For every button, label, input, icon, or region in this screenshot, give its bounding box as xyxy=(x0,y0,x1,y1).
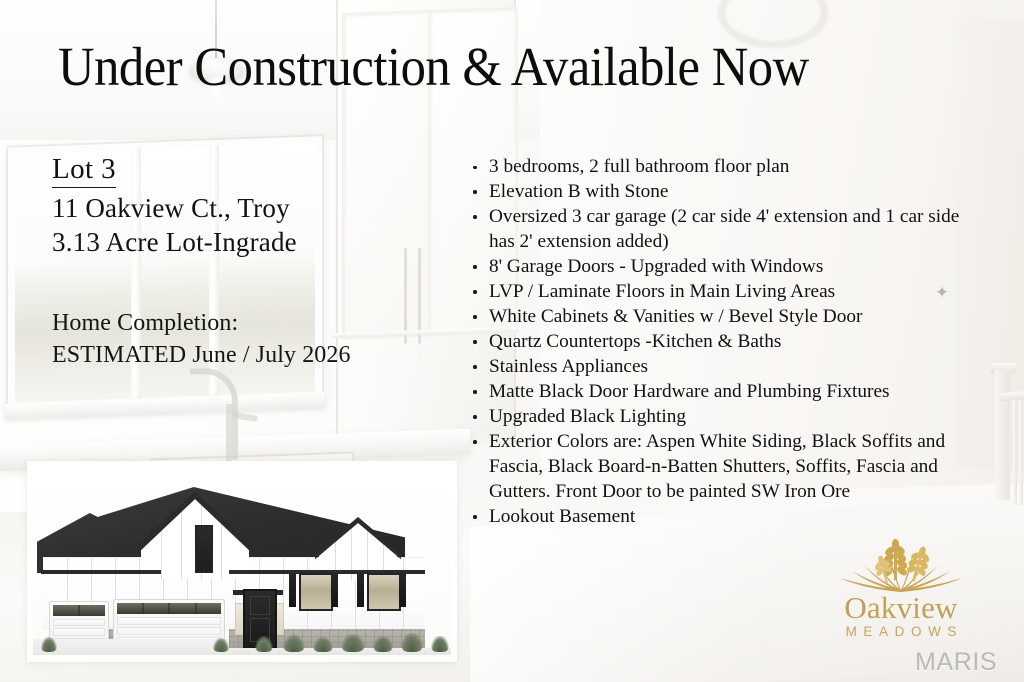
flyer-canvas: ✦ Under Construction & Available Now Lot… xyxy=(0,0,1024,682)
shrub xyxy=(255,636,273,652)
eave-left xyxy=(41,570,161,574)
lot-number: Lot 3 xyxy=(52,152,116,188)
flyer-content: Under Construction & Available Now Lot 3… xyxy=(0,0,1024,682)
listing-address: 11 Oakview Ct., Troy xyxy=(52,191,297,225)
shrub xyxy=(401,633,423,652)
feature-item: Lookout Basement xyxy=(470,505,970,530)
gable-window xyxy=(195,525,213,573)
feature-item: Elevation B with Stone xyxy=(470,180,970,205)
features-list: 3 bedrooms, 2 full bathroom floor planEl… xyxy=(470,155,970,530)
page-title: Under Construction & Available Now xyxy=(58,38,809,96)
shrub xyxy=(313,637,333,652)
feature-item: White Cabinets & Vanities w / Bevel Styl… xyxy=(470,305,970,330)
window-shutter xyxy=(357,573,364,607)
house-window xyxy=(299,573,333,611)
logo-subtitle: MEADOWS xyxy=(806,624,996,639)
feature-item: Stainless Appliances xyxy=(470,355,970,380)
feature-item: Oversized 3 car garage (2 car side 4' ex… xyxy=(470,205,970,255)
shrub xyxy=(341,634,365,652)
house-elevation-image xyxy=(33,469,451,655)
lot-number-wrap: Lot 3 xyxy=(52,152,297,191)
completion-label: Home Completion: xyxy=(52,308,351,340)
feature-item: Quartz Countertops -Kitchen & Baths xyxy=(470,330,970,355)
driveway xyxy=(33,639,229,655)
garage-door-windows xyxy=(53,605,105,616)
shrub xyxy=(373,636,393,652)
wheat-icon xyxy=(806,534,996,596)
completion-value: ESTIMATED June / July 2026 xyxy=(52,340,351,372)
window-shutter xyxy=(331,573,338,607)
feature-item: Upgraded Black Lighting xyxy=(470,405,970,430)
feature-item: Matte Black Door Hardware and Plumbing F… xyxy=(470,380,970,405)
listing-info-block: Lot 3 11 Oakview Ct., Troy 3.13 Acre Lot… xyxy=(52,152,297,259)
shrub xyxy=(431,636,449,652)
feature-item: 3 bedrooms, 2 full bathroom floor plan xyxy=(470,155,970,180)
feature-item: Exterior Colors are: Aspen White Siding,… xyxy=(470,430,970,505)
feature-item: 8' Garage Doors - Upgraded with Windows xyxy=(470,255,970,280)
maris-watermark: MARIS xyxy=(915,648,997,677)
logo-name: Oakview xyxy=(806,590,996,626)
house-rendering-card xyxy=(27,461,457,662)
shrub xyxy=(213,638,229,652)
shrub xyxy=(41,637,57,652)
completion-block: Home Completion: ESTIMATED June / July 2… xyxy=(52,308,351,372)
shrub xyxy=(283,635,305,652)
window-shutter xyxy=(399,573,406,607)
oakview-meadows-logo: Oakview MEADOWS xyxy=(806,534,996,646)
listing-acreage: 3.13 Acre Lot-Ingrade xyxy=(52,225,297,259)
garage-door-windows xyxy=(117,603,221,614)
feature-item: LVP / Laminate Floors in Main Living Are… xyxy=(470,280,970,305)
window-shutter xyxy=(289,573,296,607)
house-window xyxy=(367,573,401,611)
